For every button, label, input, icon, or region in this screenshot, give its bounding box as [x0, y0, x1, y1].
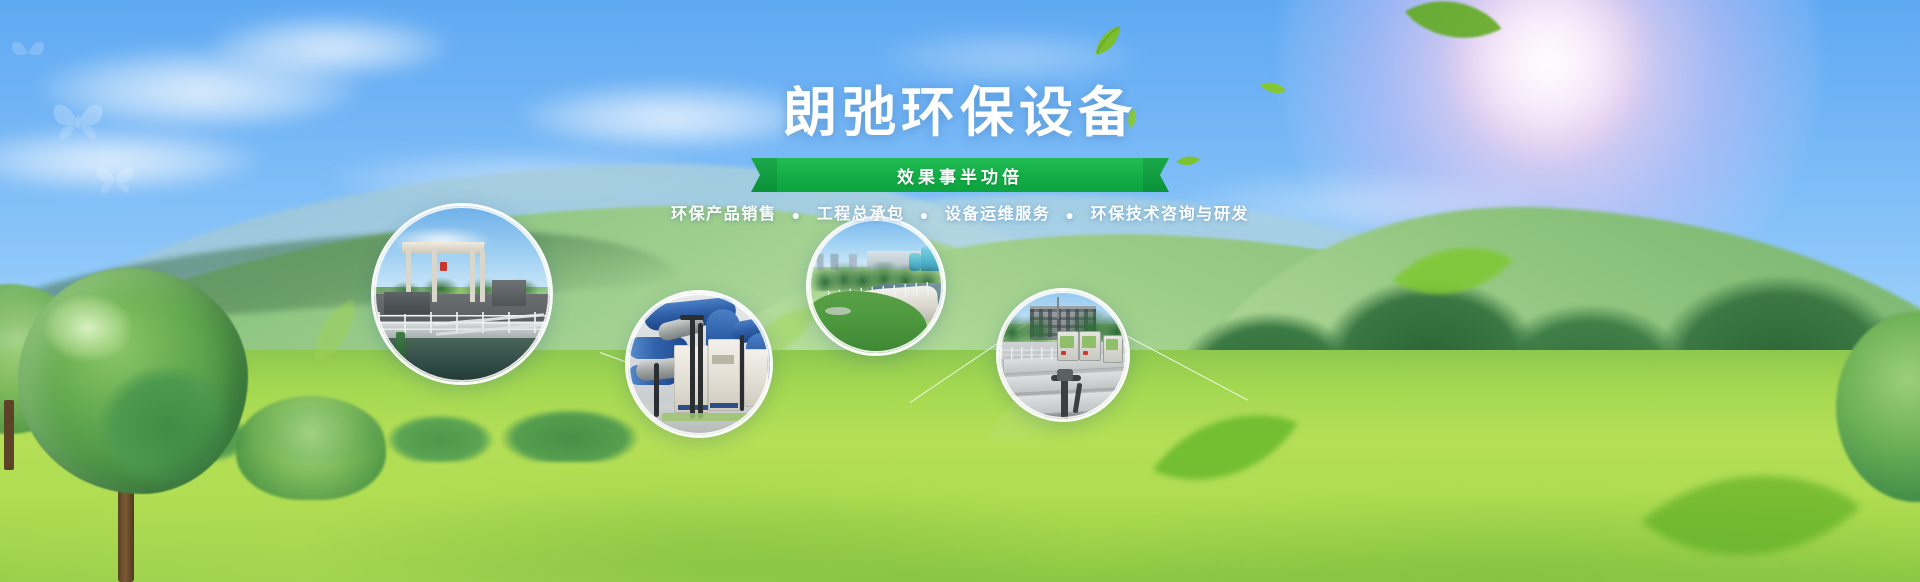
- photo-circle-treatment-units[interactable]: [996, 288, 1130, 422]
- hero-banner: 朗弛环保设备 效果事半功倍 环保产品销售 ● 工程总承包 ● 设备运维服务 ● …: [0, 0, 1920, 582]
- cloud-7: [880, 30, 1140, 80]
- photo-circle-sedimentation-basin[interactable]: [371, 203, 553, 385]
- service-separator-3: ●: [1066, 207, 1076, 223]
- ribbon-label: 效果事半功倍: [897, 163, 1023, 188]
- service-item-1: 环保产品销售: [671, 206, 777, 223]
- ribbon-banner: 效果事半功倍: [751, 158, 1169, 192]
- service-item-2: 工程总承包: [817, 206, 905, 223]
- tree-main-crown: [18, 268, 248, 494]
- leaf-icon-5: [1398, 0, 1510, 70]
- cloud-2: [210, 16, 450, 74]
- banner-headline: 朗弛环保设备: [0, 82, 1920, 146]
- banner-services-line: 环保产品销售 ● 工程总承包 ● 设备运维服务 ● 环保技术咨询与研发: [0, 200, 1920, 224]
- service-item-3: 设备运维服务: [945, 206, 1051, 223]
- service-separator-1: ●: [792, 207, 802, 223]
- tree-left-small-trunk: [4, 400, 14, 470]
- service-item-4: 环保技术咨询与研发: [1091, 206, 1249, 223]
- butterfly-icon-3: [8, 36, 48, 75]
- ribbon-wrapper: 效果事半功倍: [0, 158, 1920, 192]
- leaf-icon-1: [1087, 23, 1129, 59]
- photo-circle-clarifier-tank[interactable]: [806, 216, 946, 356]
- photo-circle-blue-pump-room[interactable]: [625, 290, 773, 438]
- service-separator-2: ●: [920, 207, 930, 223]
- tree-mid-small-crown: [236, 396, 386, 500]
